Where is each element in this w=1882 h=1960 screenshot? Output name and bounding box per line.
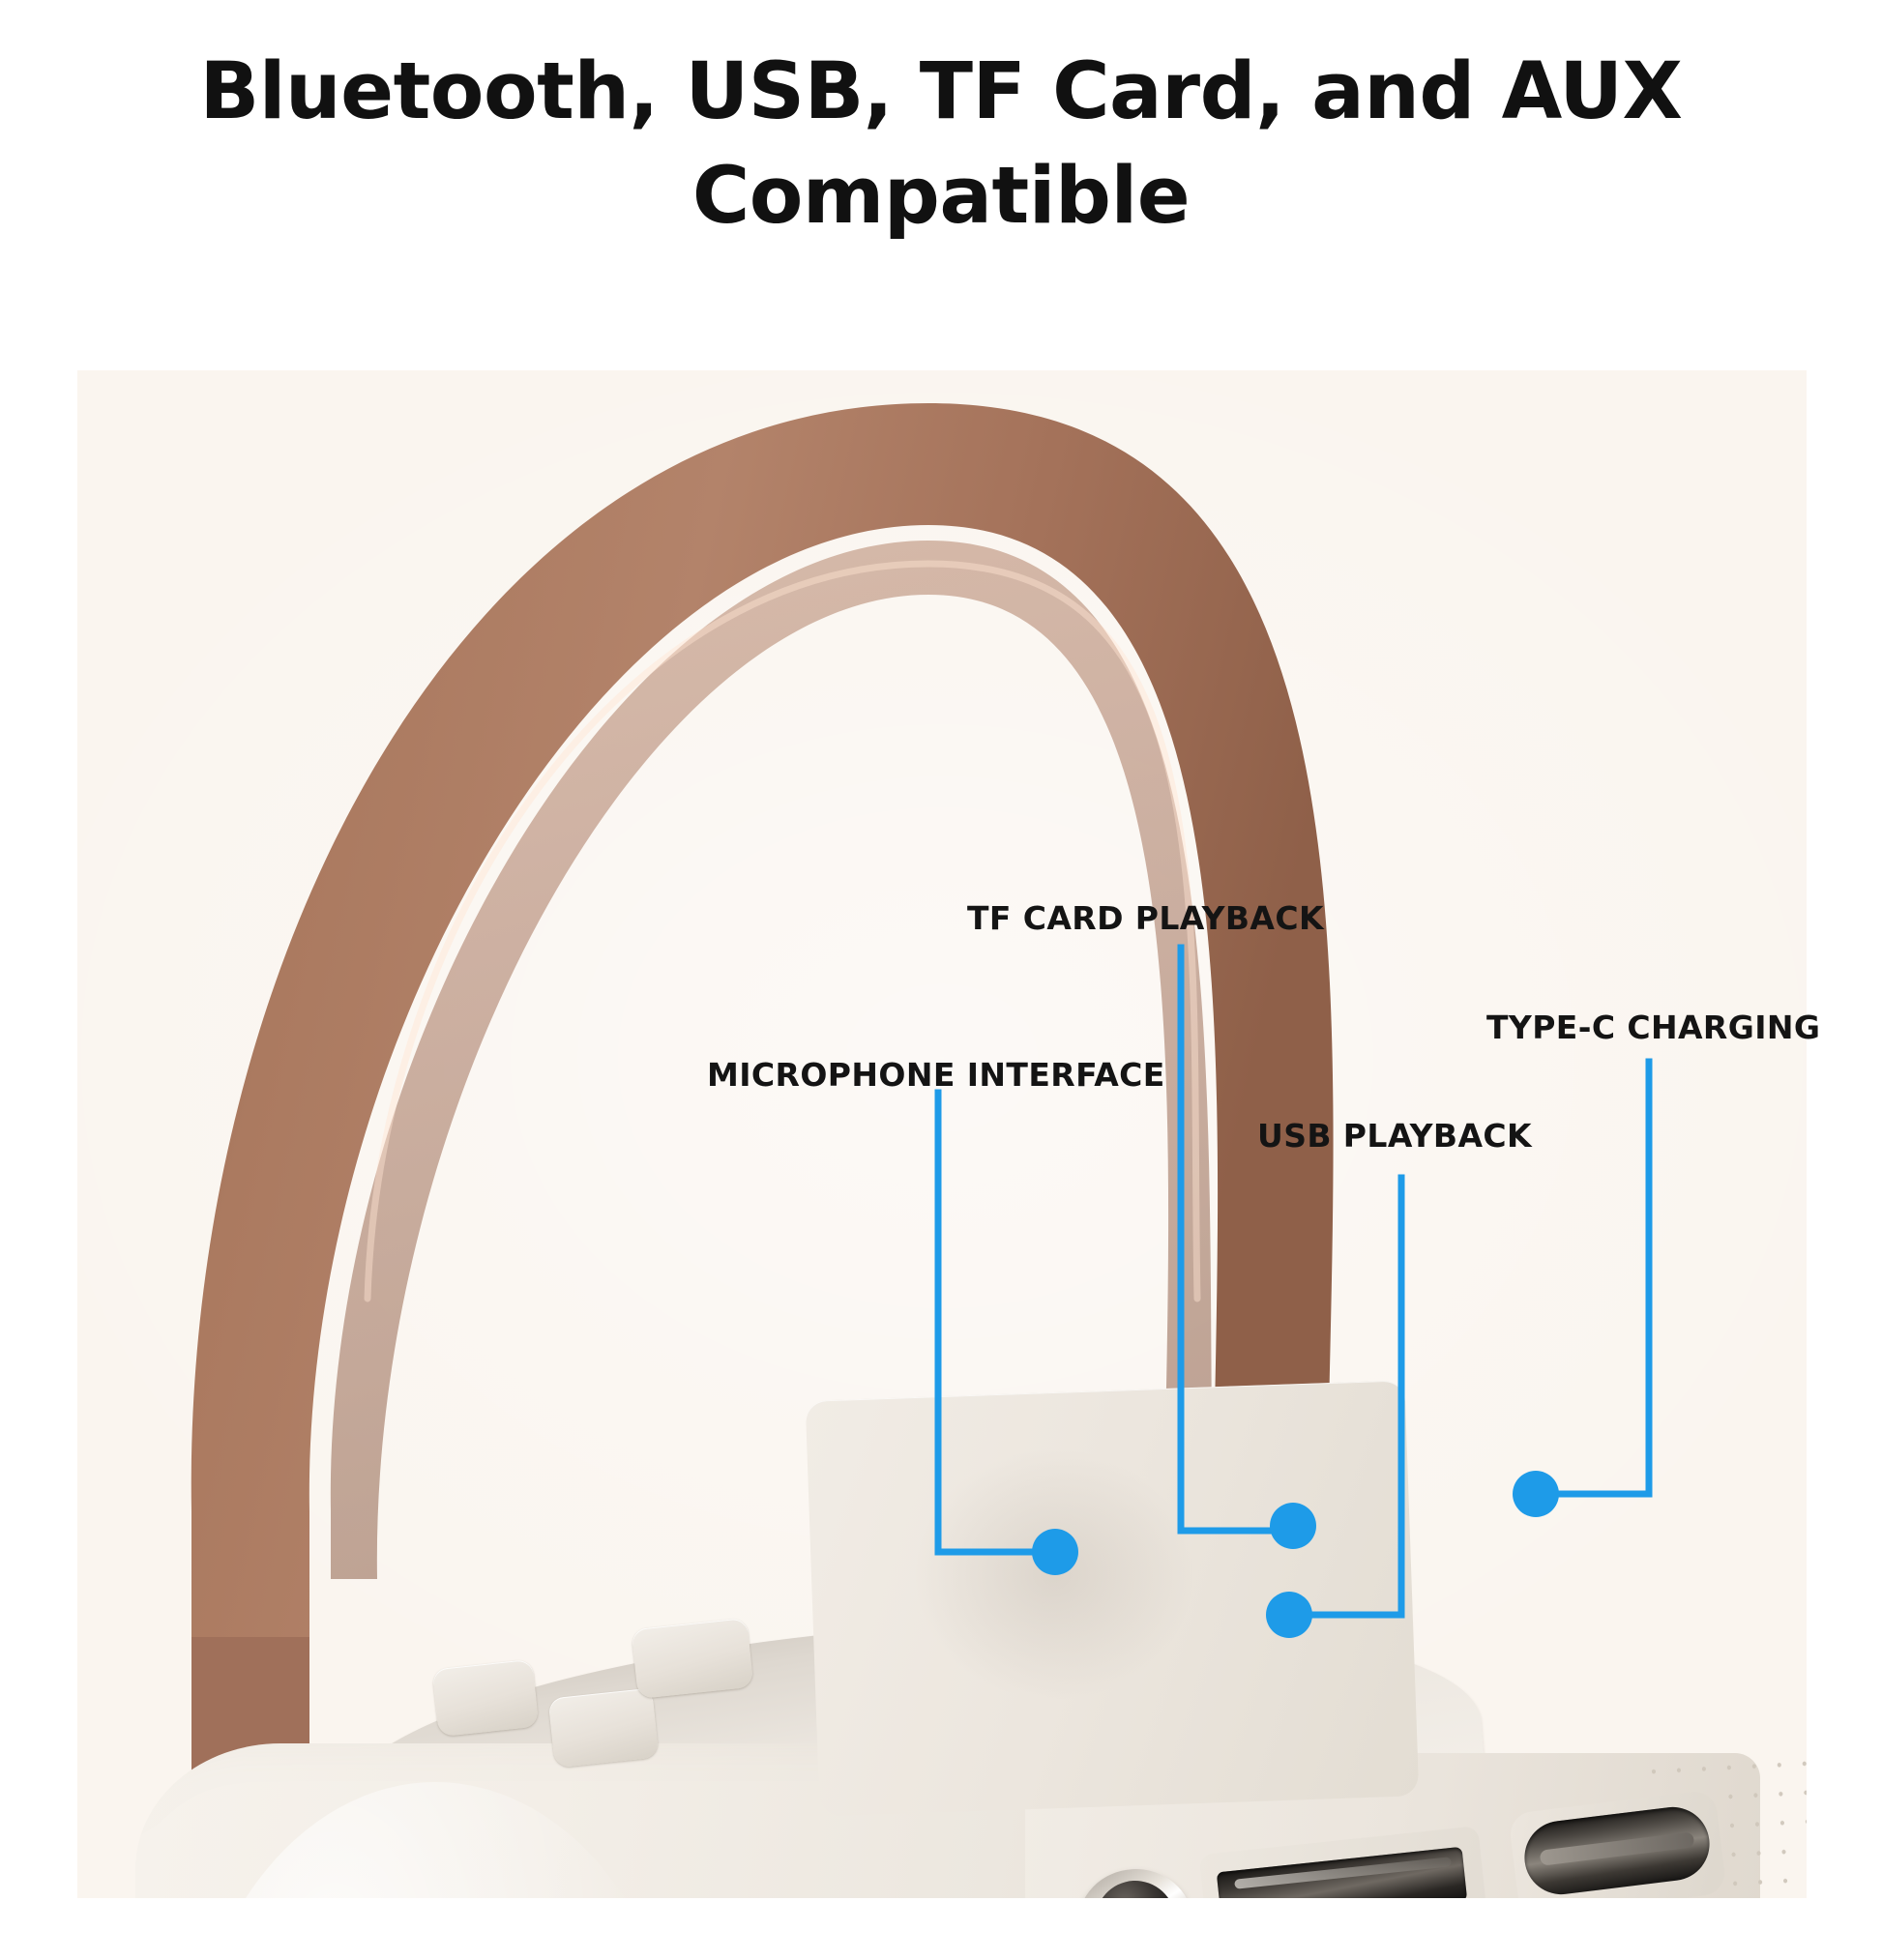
callout-label-usb-playback: USB PLAYBACK (1257, 1117, 1532, 1155)
callout-label-tf-card-playback: TF CARD PLAYBACK (967, 899, 1324, 937)
callout-label-type-c-charging: TYPE-C CHARGING (1486, 1009, 1820, 1046)
top-button-2[interactable] (548, 1688, 660, 1769)
port-plate (806, 1380, 1420, 1816)
product-photo-panel (77, 370, 1807, 1898)
top-button-1[interactable] (432, 1659, 540, 1737)
page-title: Bluetooth, USB, TF Card, and AUX Compati… (0, 41, 1882, 249)
top-button-3[interactable] (632, 1618, 754, 1699)
infographic-page: Bluetooth, USB, TF Card, and AUX Compati… (0, 0, 1882, 1960)
callout-label-microphone-interface: MICROPHONE INTERFACE (707, 1056, 1165, 1094)
